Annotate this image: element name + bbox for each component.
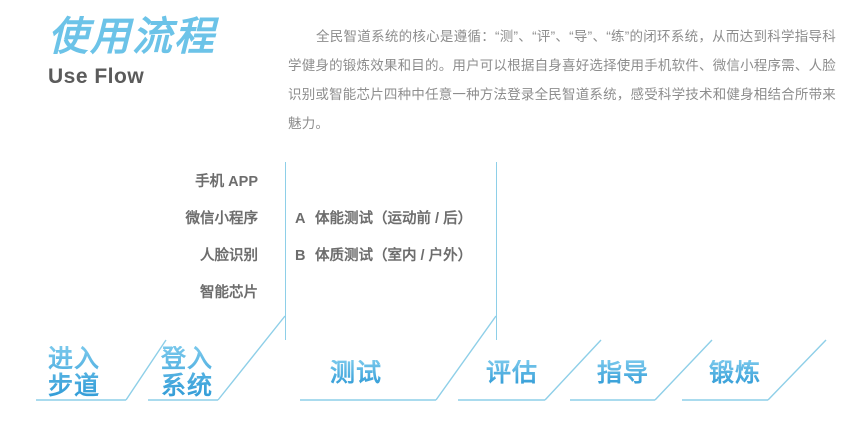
use-flow-infographic: 使用流程 Use Flow 全民智道系统的核心是遵循：“测”、“评”、“导”、“…	[0, 0, 851, 442]
list-item: A 体能测试（运动前 / 后）	[295, 201, 495, 238]
flow-step-2-line2: 系统	[161, 373, 213, 400]
test-type-label: 体能测试（运动前 / 后）	[315, 211, 472, 227]
intro-paragraph: 全民智道系统的核心是遵循：“测”、“评”、“导”、“练”的闭环系统，从而达到科学…	[288, 22, 836, 138]
list-item: 微信小程序	[120, 201, 258, 238]
page-title-en: Use Flow	[48, 64, 288, 90]
list-item: 人脸识别	[120, 238, 258, 275]
test-type-key: B	[295, 238, 311, 275]
flow-step-5[interactable]: 指导	[597, 360, 649, 387]
login-methods-list: 手机 APP 微信小程序 人脸识别 智能芯片	[120, 164, 258, 312]
flow-step-1-line2: 步道	[48, 373, 100, 400]
flow-step-4[interactable]: 评估	[486, 360, 538, 387]
flow-step-3[interactable]: 测试	[330, 360, 382, 387]
flow-step-6[interactable]: 锻炼	[709, 360, 761, 387]
list-item: 智能芯片	[120, 275, 258, 312]
flow-steps-bar: 进入 步道 登入 系统 测试 评估 指导 锻炼	[0, 320, 851, 420]
flow-step-1[interactable]: 进入 步道	[48, 346, 100, 400]
title-block: 使用流程 Use Flow	[48, 14, 288, 90]
test-types-list: A 体能测试（运动前 / 后） B 体质测试（室内 / 户外）	[295, 201, 495, 275]
test-type-label: 体质测试（室内 / 户外）	[315, 248, 472, 264]
list-item: B 体质测试（室内 / 户外）	[295, 238, 495, 275]
flow-step-1-line1: 进入	[48, 346, 100, 373]
test-type-key: A	[295, 201, 311, 238]
flow-step-2[interactable]: 登入 系统	[161, 346, 213, 400]
middle-section: 手机 APP 微信小程序 人脸识别 智能芯片 A 体能测试（运动前 / 后） B…	[0, 164, 851, 314]
list-item: 手机 APP	[120, 164, 258, 201]
page-title-cn: 使用流程	[48, 14, 288, 60]
flow-step-2-line1: 登入	[161, 346, 213, 373]
